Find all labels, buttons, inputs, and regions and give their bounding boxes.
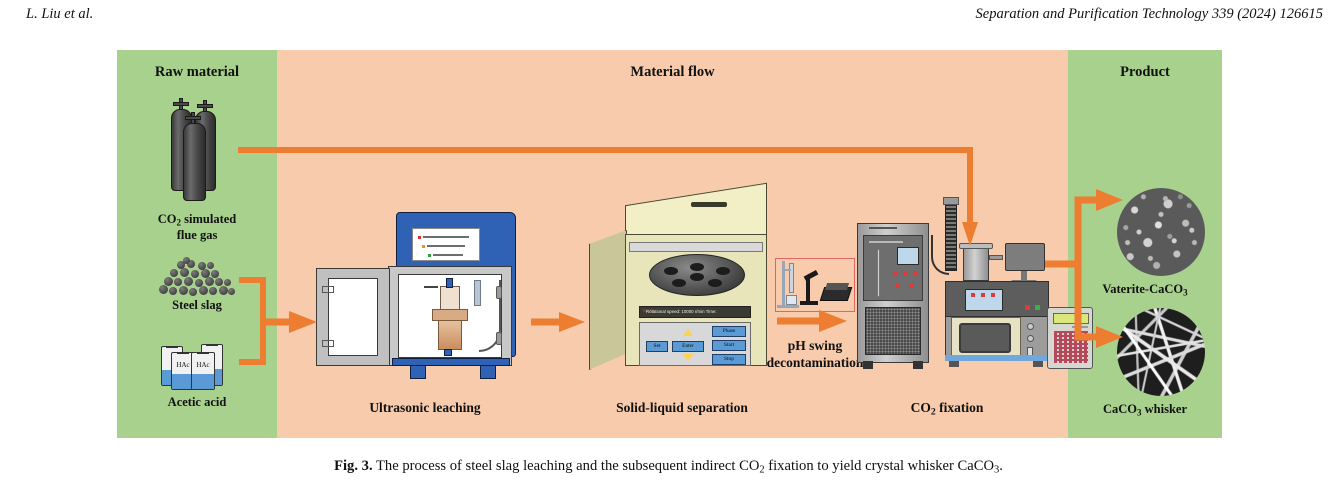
co2-flue-gas-label: CO2 simulated flue gas <box>117 212 277 242</box>
reactor-monitor <box>1005 243 1045 271</box>
sem-image-whisker <box>1117 308 1205 396</box>
reactor-led <box>971 293 975 297</box>
centrifuge-lid-handle <box>691 202 727 207</box>
keypad-display <box>1053 313 1089 324</box>
chiller-vent-grill <box>865 307 921 355</box>
whisker-label-post: whisker <box>1142 402 1188 416</box>
reactor-oven-window <box>959 323 1011 353</box>
chamber-latch-bottom <box>496 332 502 345</box>
door-hinge-top <box>322 286 334 293</box>
hac-bottle-front-right: HAc <box>191 352 215 390</box>
figure-3-graphic: Raw material Material flow Product CO2 s… <box>117 50 1222 438</box>
door-hinge-bottom <box>322 340 334 347</box>
acetic-acid-bottle-group: HAc HAc <box>157 338 237 390</box>
reactor-probe <box>446 278 453 288</box>
ultrasonic-reactor-assembly <box>424 278 480 356</box>
panel-raw-material-title: Raw material <box>117 64 277 81</box>
centrifuge-machine: Rotational speed: 10000 r/min Time: 02:3… <box>587 192 777 392</box>
centrifuge-arrow-up-icon[interactable] <box>683 329 693 336</box>
label-line-3 <box>433 254 463 256</box>
centrifuge-display: Rotational speed: 10000 r/min Time: 02:3… <box>639 306 751 318</box>
figure-caption: Fig. 3. The process of steel slag leachi… <box>0 458 1337 476</box>
co2-fixation-label-post: fixation <box>936 400 984 415</box>
running-head-journal: Separation and Purification Technology 3… <box>976 6 1323 23</box>
cylinder-valve-front-cap <box>185 116 201 120</box>
keypad-key-grid[interactable] <box>1054 331 1088 363</box>
figure-caption-text-2: fixation to yield crystal whisker CaCO <box>765 458 994 474</box>
steel-slag-heap <box>153 257 239 297</box>
label-line-1 <box>423 236 469 238</box>
solid-liquid-separation-label: Solid-liquid separation <box>567 400 797 416</box>
ultrasonic-leg-right <box>480 365 496 379</box>
centrifuge-button-start[interactable]: Start <box>712 340 746 351</box>
reactor-led <box>981 293 985 297</box>
co2-fixation-label: CO2 fixation <box>857 400 1037 417</box>
centrifuge-button-set[interactable]: Set <box>646 341 668 352</box>
whisker-label-pre: CaCO <box>1103 402 1137 416</box>
burette-tube <box>789 263 794 293</box>
co2-label-line2: flue gas <box>177 228 218 242</box>
rotor-hole <box>664 267 678 275</box>
reactor-sensor-line <box>424 286 438 288</box>
condenser-top-cap <box>943 197 959 205</box>
cylinder-valve-back-cap <box>173 102 189 106</box>
ultrasonic-machine-label-plate <box>412 228 480 261</box>
chiller-led <box>895 283 900 288</box>
running-head-authors: L. Liu et al. <box>26 6 93 23</box>
vaterite-label-sub: 3 <box>1183 287 1188 297</box>
reactor-led <box>991 293 995 297</box>
reactor-outlet <box>444 349 452 356</box>
page-root: L. Liu et al. Separation and Purificatio… <box>0 0 1337 489</box>
ultrasonic-leaching-label: Ultrasonic leaching <box>335 400 515 416</box>
cylinder-valve-mid-cap <box>197 104 213 108</box>
chiller-led <box>913 271 918 276</box>
chiller-brand-line-2 <box>869 241 903 243</box>
chiller-front-panel <box>863 235 923 301</box>
ph-swing-label-line1: pH swing <box>788 338 842 353</box>
reactor-status-led-red <box>1025 305 1030 310</box>
ph-meter-base-bar <box>800 301 818 305</box>
vessel-lid <box>959 243 993 249</box>
ultrasonic-leaching-machine <box>314 210 524 395</box>
label-bullet-orange <box>422 245 425 248</box>
label-bullet-green <box>428 254 431 257</box>
rotor-hole <box>690 273 704 281</box>
reactor-knob-1[interactable] <box>1027 323 1034 330</box>
co2-label-line1: CO2 simulated <box>158 212 236 226</box>
rotor-hole <box>690 263 704 271</box>
burette-stand-post <box>782 261 785 307</box>
reactor-status-led-green <box>1035 305 1040 310</box>
centrifuge-left-side <box>589 230 627 370</box>
chamber-latch-top <box>496 286 502 299</box>
bottle-cap <box>166 346 177 348</box>
reaction-vessel <box>963 247 989 281</box>
keypad-brand-line <box>1072 326 1088 328</box>
figure-caption-label: Fig. 3. <box>334 458 373 474</box>
co2-fixation-apparatus <box>857 195 1072 395</box>
rotor-hole <box>672 279 686 287</box>
ph-meter-display <box>825 283 849 290</box>
chiller-led <box>903 271 908 276</box>
vessel-side-port <box>989 255 1003 260</box>
centrifuge-button-phase[interactable]: Phase <box>712 326 746 337</box>
titration-flask <box>786 295 797 305</box>
burette-clamp <box>783 269 791 271</box>
panel-product-title: Product <box>1068 64 1222 81</box>
centrifuge-button-stop[interactable]: Stop <box>712 354 746 365</box>
centrifuge-keypad: Set Enter Phase Start Stop <box>639 322 751 366</box>
sem-image-vaterite <box>1117 188 1205 276</box>
vaterite-label: Vaterite-CaCO3 <box>1068 282 1222 298</box>
chiller-foot-right <box>913 361 923 369</box>
ph-probe-arm <box>806 277 810 303</box>
figure-caption-text-1: The process of steel slag leaching and t… <box>373 458 760 474</box>
bottle-cap <box>197 352 209 354</box>
running-head: L. Liu et al. Separation and Purificatio… <box>0 6 1337 28</box>
reactor-upper-tube <box>440 286 460 310</box>
ultrasonic-door-window <box>328 278 378 356</box>
figure-caption-text-3: . <box>999 458 1003 474</box>
whisker-label: CaCO3 whisker <box>1068 402 1222 418</box>
bottle-liquid <box>192 374 214 389</box>
centrifuge-rim <box>629 242 763 252</box>
condenser-tubing <box>931 235 949 275</box>
reactor-vessel <box>438 320 462 350</box>
centrifuge-display-text: Rotational speed: 10000 r/min Time: 02:3… <box>643 308 654 313</box>
ultrasonic-base-bar <box>392 358 510 366</box>
chiller-led <box>893 271 898 276</box>
rotor-hole <box>716 267 730 275</box>
hac-bottle-label-right: HAc <box>192 361 214 369</box>
rotor-hole <box>708 279 722 287</box>
panel-material-flow-title: Material flow <box>277 64 1068 81</box>
chiller-level-gauge <box>877 249 880 297</box>
reactor-base-trim <box>945 355 1049 361</box>
centrifuge-button-enter[interactable]: Enter <box>672 341 704 352</box>
co2-cylinder-front <box>183 123 206 201</box>
label-bullet-red <box>418 236 421 239</box>
centrifuge-rotor <box>649 254 745 296</box>
burette-stand-base <box>777 305 799 308</box>
label-line-2 <box>427 245 465 247</box>
co2-fixation-label-pre: CO <box>911 400 931 415</box>
ph-swing-illustration-box <box>775 258 855 312</box>
ultrasonic-leg-left <box>410 365 426 379</box>
ph-probe-head <box>804 270 819 281</box>
reactor-knob-2[interactable] <box>1027 335 1034 342</box>
bottle-cap <box>206 344 217 346</box>
ph-swing-label-line2: decontamination <box>767 355 864 370</box>
co2-cylinder-group <box>159 98 239 203</box>
acetic-acid-label: Acetic acid <box>117 395 277 409</box>
vaterite-label-pre: Vaterite-CaCO <box>1102 282 1183 296</box>
chiller-led <box>909 283 914 288</box>
centrifuge-arrow-down-icon[interactable] <box>683 354 693 361</box>
bottle-cap <box>177 352 189 354</box>
steel-slag-label: Steel slag <box>117 298 277 312</box>
chiller-display <box>897 247 919 265</box>
control-keypad-terminal[interactable] <box>1047 307 1093 369</box>
chiller-brand-line-1 <box>869 227 897 229</box>
chiller-foot-left <box>863 361 873 369</box>
